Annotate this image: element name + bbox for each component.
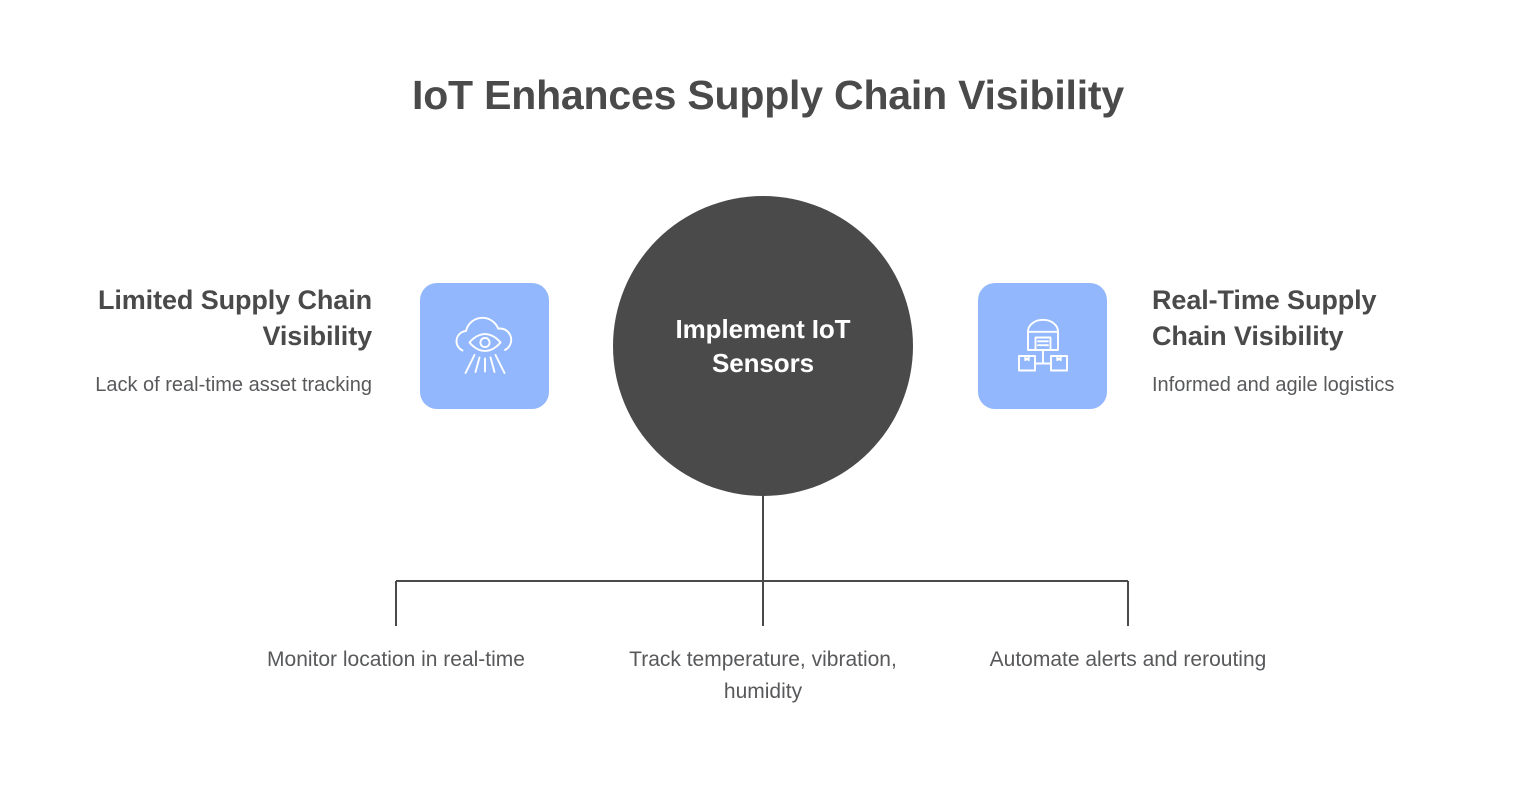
right-heading: Real-Time Supply Chain Visibility	[1152, 283, 1452, 354]
left-description: Lack of real-time asset tracking	[72, 371, 372, 399]
cloud-eye-visibility-icon	[446, 307, 524, 385]
right-text-block: Real-Time Supply Chain Visibility Inform…	[1152, 283, 1452, 400]
page-title: IoT Enhances Supply Chain Visibility	[0, 72, 1536, 119]
left-heading: Limited Supply Chain Visibility	[72, 283, 372, 354]
right-icon-tile	[978, 283, 1107, 409]
warehouse-distribution-icon	[1004, 307, 1082, 385]
branch-label-2: Automate alerts and rerouting	[978, 644, 1278, 676]
right-description: Informed and agile logistics	[1152, 371, 1452, 399]
left-text-block: Limited Supply Chain Visibility Lack of …	[72, 283, 372, 400]
center-node: Implement IoT Sensors	[613, 196, 913, 496]
infographic-canvas: IoT Enhances Supply Chain Visibility Lim…	[0, 0, 1536, 791]
branch-label-1: Track temperature, vibration, humidity	[613, 644, 913, 707]
center-node-label: Implement IoT Sensors	[648, 312, 878, 381]
branch-label-0: Monitor location in real-time	[246, 644, 546, 676]
left-icon-tile	[420, 283, 549, 409]
